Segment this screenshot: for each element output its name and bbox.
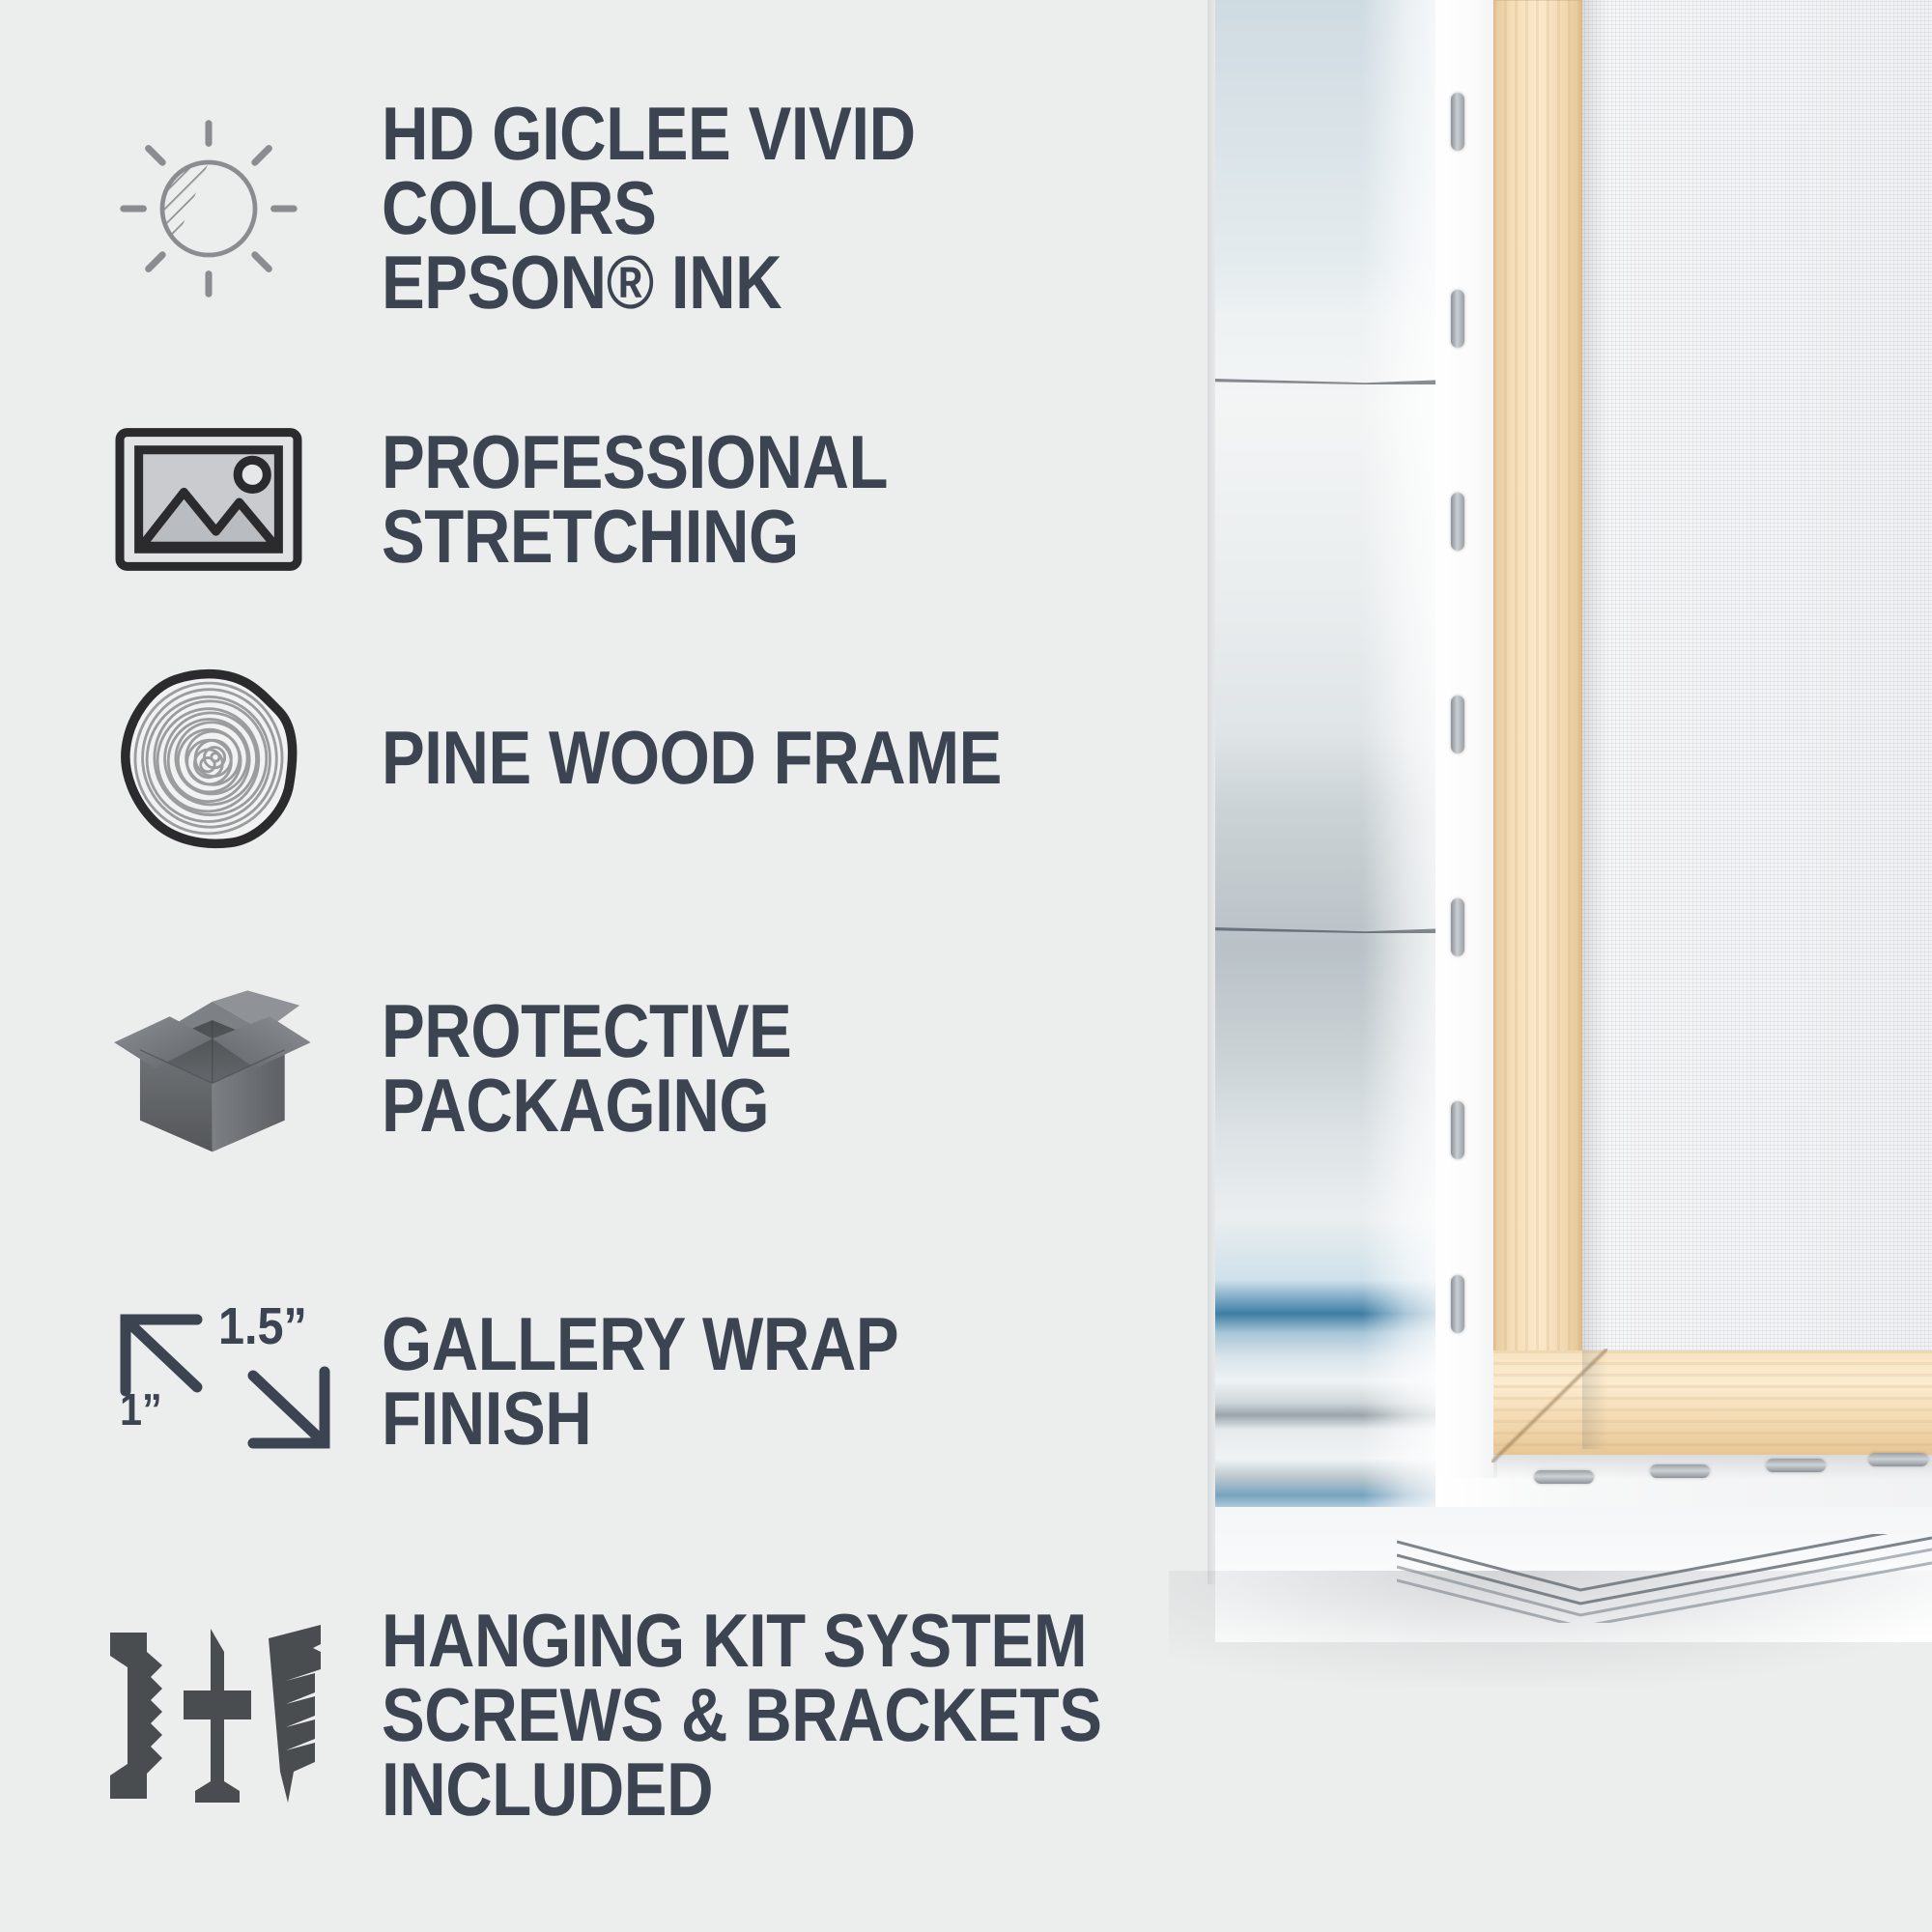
feature-row-pine-wood-frame: PINE WOOD FRAME bbox=[104, 667, 1103, 850]
canvas-back-corner-photo bbox=[1215, 0, 1932, 1642]
feature-label-protective-packaging: PROTECTIVE PACKAGING bbox=[382, 994, 1109, 1143]
staple bbox=[1451, 696, 1464, 753]
canvas-lip bbox=[1435, 0, 1497, 1478]
picture-frame-icon bbox=[104, 426, 312, 573]
feature-label-hanging-kit: HANGING KIT SYSTEM SCREWS & BRACKETS INC… bbox=[382, 1604, 1109, 1828]
feature-row-professional-stretching: PROFESSIONAL STRETCHING bbox=[104, 425, 1227, 574]
staple bbox=[1451, 898, 1464, 956]
staple bbox=[1766, 1459, 1826, 1472]
stretcher-shadow-vertical bbox=[1582, 0, 1607, 1449]
staple bbox=[1534, 1470, 1594, 1484]
staple bbox=[1451, 493, 1464, 551]
staple bbox=[1650, 1464, 1710, 1478]
feature-label-pine-wood-frame: PINE WOOD FRAME bbox=[382, 721, 1002, 795]
staple bbox=[1451, 93, 1464, 151]
feature-row-hanging-kit: HANGING KIT SYSTEM SCREWS & BRACKETS INC… bbox=[104, 1604, 1227, 1828]
infographic-page: HD GICLEE VIVID COLORS EPSON® INK PROFES… bbox=[0, 0, 1932, 1932]
staple bbox=[1451, 1101, 1464, 1159]
staple bbox=[1451, 290, 1464, 348]
feature-label-professional-stretching: PROFESSIONAL STRETCHING bbox=[382, 425, 1109, 574]
feature-label-hd-giclee: HD GICLEE VIVID COLORS EPSON® INK bbox=[382, 97, 1109, 321]
wrap-depth-small-label: 1” bbox=[120, 1387, 162, 1432]
feature-label-gallery-wrap-finish: GALLERY WRAP FINISH bbox=[382, 1307, 1109, 1456]
feature-list: HD GICLEE VIVID COLORS EPSON® INK PROFES… bbox=[0, 0, 1227, 1932]
staple bbox=[1868, 1453, 1928, 1466]
feature-row-protective-packaging: PROTECTIVE PACKAGING bbox=[104, 976, 1227, 1161]
tree-ring-icon bbox=[104, 667, 312, 850]
open-box-icon bbox=[104, 976, 312, 1161]
staple bbox=[1451, 1275, 1464, 1333]
wrap-depth-large-label: 1.5” bbox=[218, 1300, 307, 1352]
hanging-hardware-icon bbox=[104, 1619, 312, 1812]
sun-icon bbox=[104, 114, 312, 303]
pine-stretcher-bar-vertical bbox=[1493, 0, 1582, 1449]
depth-arrows-icon: 1.5” 1” bbox=[104, 1294, 312, 1468]
artwork-chevron-lines bbox=[1397, 1534, 1932, 1623]
feature-row-gallery-wrap-finish: 1.5” 1” GALLERY WRAP FINISH bbox=[104, 1294, 1227, 1468]
feature-row-hd-giclee: HD GICLEE VIVID COLORS EPSON® INK bbox=[104, 97, 1227, 321]
